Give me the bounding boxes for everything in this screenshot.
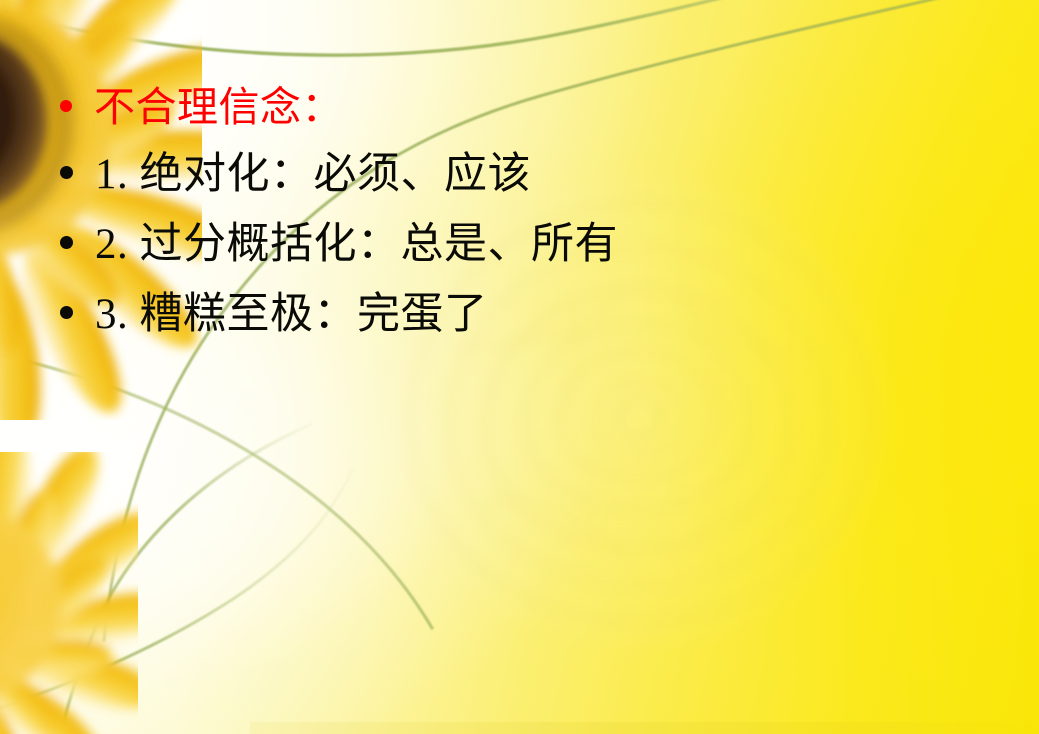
slide-title-line: 不合理信念： — [60, 86, 343, 129]
bullet-icon — [60, 306, 73, 319]
presentation-slide: 不合理信念： 1. 绝对化：必须、应该 2. 过分概括化：总是、所有 3. 糟糕… — [0, 0, 1039, 734]
bullet-item-1: 1. 绝对化：必须、应该 — [60, 152, 531, 197]
slide-content: 不合理信念： 1. 绝对化：必须、应该 2. 过分概括化：总是、所有 3. 糟糕… — [0, 0, 1039, 734]
bullet-item-1-text: 1. 绝对化：必须、应该 — [95, 152, 531, 197]
bullet-item-3-text: 3. 糟糕至极：完蛋了 — [95, 292, 488, 337]
bullet-icon — [60, 166, 73, 179]
title-bullet-icon — [60, 100, 72, 112]
bullet-item-2: 2. 过分概括化：总是、所有 — [60, 222, 618, 267]
bullet-item-2-text: 2. 过分概括化：总是、所有 — [95, 222, 618, 267]
bullet-icon — [60, 236, 73, 249]
bullet-item-3: 3. 糟糕至极：完蛋了 — [60, 292, 488, 337]
slide-title-text: 不合理信念： — [94, 86, 343, 129]
